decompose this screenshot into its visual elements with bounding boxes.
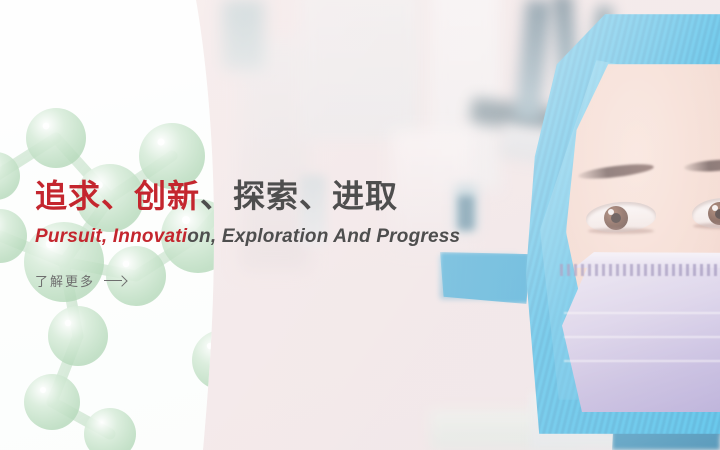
learn-more-link[interactable]: 了解更多 [35, 271, 126, 290]
page-subtitle-grey-segment: on, Exploration And Progress [187, 226, 460, 247]
page-title-grey-segment: 、探索、进取 [200, 178, 398, 214]
learn-more-label: 了解更多 [35, 271, 95, 290]
arrow-right-icon [104, 276, 126, 286]
hero-copy: 追求、创新、探索、进取 Pursuit, Innovation, Explora… [35, 176, 695, 291]
hero-banner: 追求、创新、探索、进取 Pursuit, Innovation, Explora… [0, 0, 720, 450]
page-subtitle-red-segment: Pursuit, Innovati [35, 226, 187, 247]
page-title-red-segment: 追求、创新 [35, 178, 200, 214]
page-title: 追求、创新、探索、进取 [35, 176, 695, 216]
page-subtitle: Pursuit, Innovation, Exploration And Pro… [35, 224, 695, 250]
